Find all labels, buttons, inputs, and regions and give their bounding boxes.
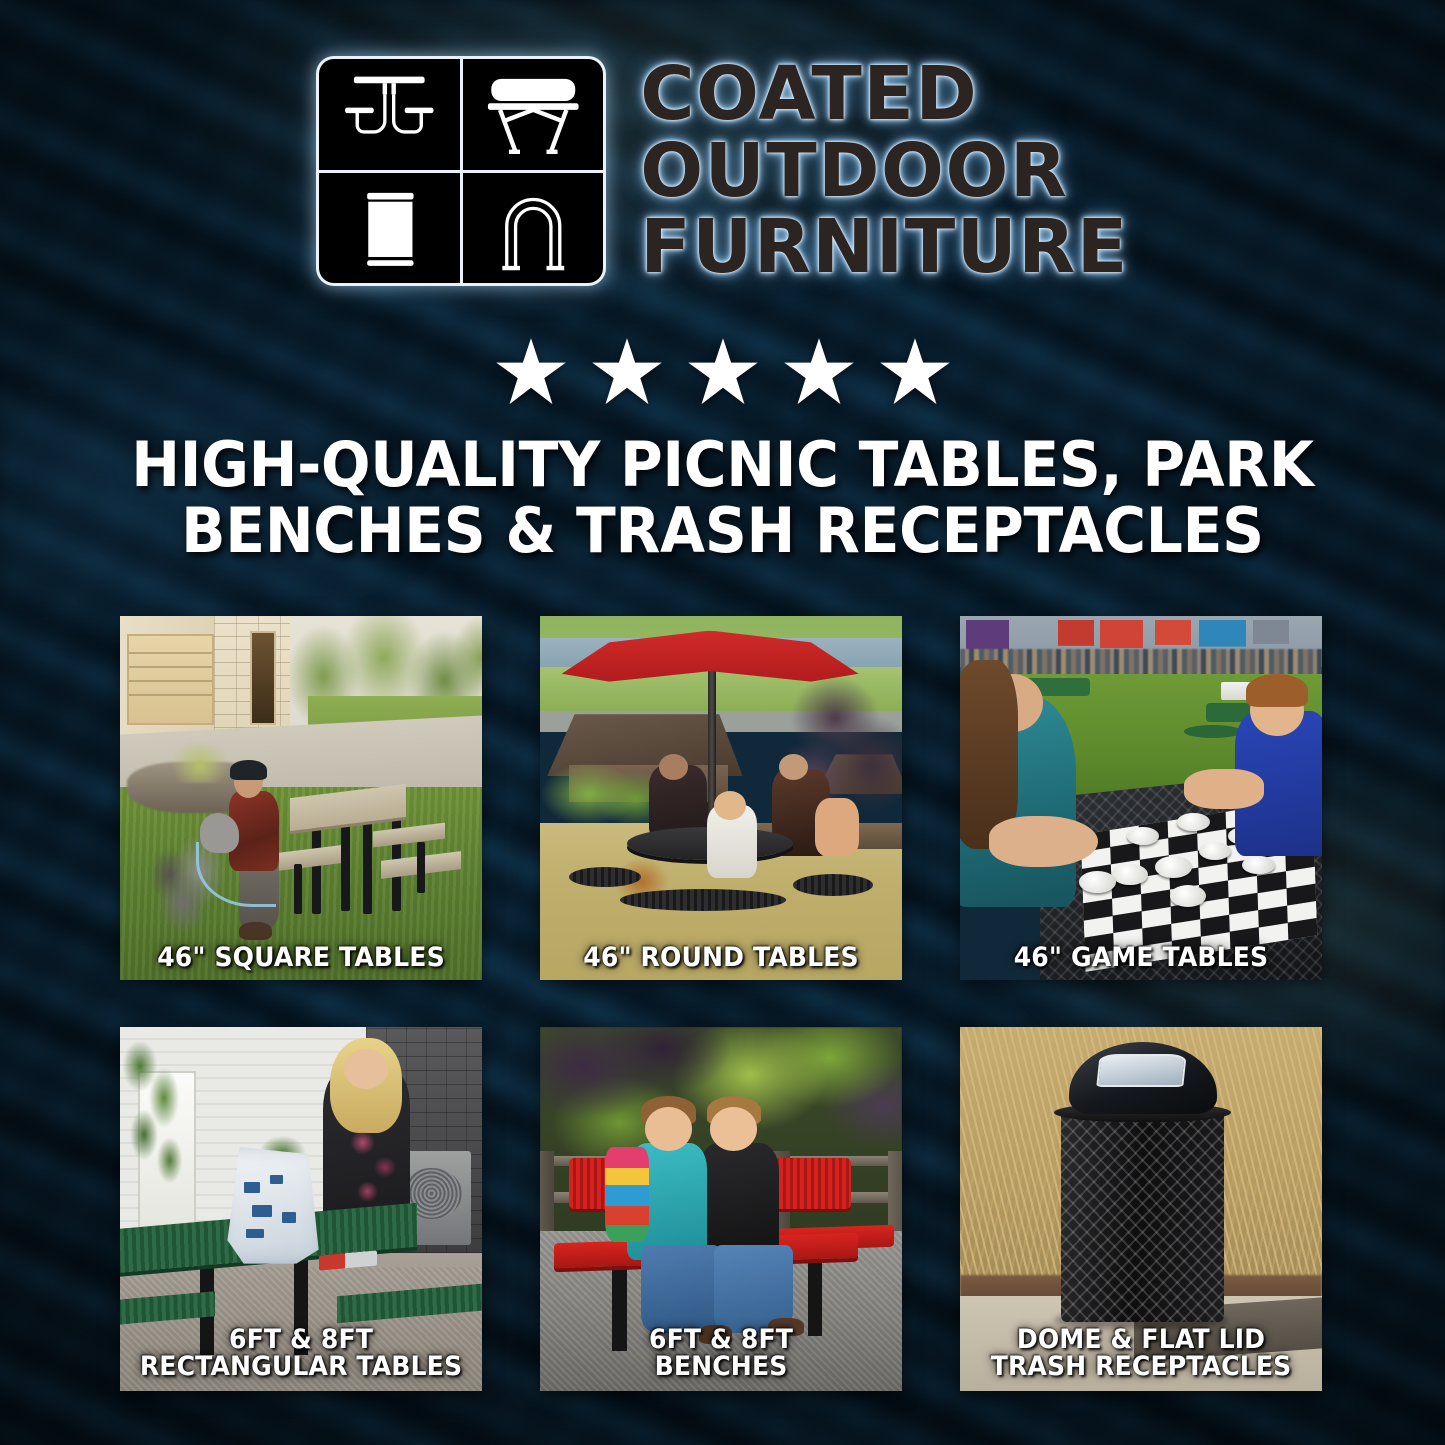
- brand-line-2: OUTDOOR: [640, 135, 1129, 208]
- product-caption-rectangular-tables: 6FT & 8FT RECTANGULAR TABLES: [133, 1326, 470, 1381]
- caption-line: BENCHES: [553, 1353, 890, 1381]
- caption-line: DOME & FLAT LID: [973, 1326, 1310, 1354]
- star-icon: [878, 336, 952, 410]
- product-caption-round-tables: 46" ROUND TABLES: [553, 944, 890, 972]
- brand-line-3: FURNITURE: [640, 211, 1129, 284]
- product-photo-game-tables: [960, 616, 1322, 980]
- product-caption-square-tables: 46" SQUARE TABLES: [133, 944, 470, 972]
- product-tile-game-tables[interactable]: 46" GAME TABLES: [960, 616, 1322, 980]
- brand-wordmark: COATED OUTDOOR FURNITURE: [640, 56, 1129, 284]
- product-caption-game-tables: 46" GAME TABLES: [973, 944, 1310, 972]
- bike-rack-icon: [463, 173, 604, 284]
- headline-line-2: BENCHES & TRASH RECEPTACLES: [43, 498, 1401, 564]
- caption-line: TRASH RECEPTACLES: [973, 1353, 1310, 1381]
- caption-line: 46" SQUARE TABLES: [133, 944, 470, 972]
- promo-poster: COATED OUTDOOR FURNITURE HIGH-QUALITY PI…: [0, 0, 1445, 1445]
- caption-line: RECTANGULAR TABLES: [133, 1353, 470, 1381]
- star-icon: [590, 336, 664, 410]
- star-icon: [782, 336, 856, 410]
- star-rating: [0, 336, 1445, 410]
- trash-receptacle-icon: [319, 173, 460, 284]
- bench-table-icon: [463, 59, 604, 170]
- headline-line-1: HIGH-QUALITY PICNIC TABLES, PARK: [43, 432, 1401, 498]
- product-tile-benches[interactable]: 6FT & 8FT BENCHES: [540, 1027, 902, 1391]
- picnic-table-icon: [319, 59, 460, 170]
- product-tile-square-tables[interactable]: 46" SQUARE TABLES: [120, 616, 482, 980]
- product-tile-trash-receptacles[interactable]: DOME & FLAT LID TRASH RECEPTACLES: [960, 1027, 1322, 1391]
- product-caption-trash-receptacles: DOME & FLAT LID TRASH RECEPTACLES: [973, 1326, 1310, 1381]
- product-tile-rectangular-tables[interactable]: 6FT & 8FT RECTANGULAR TABLES: [120, 1027, 482, 1391]
- product-grid: 46" SQUARE TABLES: [120, 616, 1330, 1391]
- brand-header: COATED OUTDOOR FURNITURE: [0, 56, 1445, 286]
- product-photo-square-tables: [120, 616, 482, 980]
- caption-line: 6FT & 8FT: [553, 1326, 890, 1354]
- product-tile-round-tables[interactable]: 46" ROUND TABLES: [540, 616, 902, 980]
- caption-line: 46" GAME TABLES: [973, 944, 1310, 972]
- product-photo-round-tables: [540, 616, 902, 980]
- product-caption-benches: 6FT & 8FT BENCHES: [553, 1326, 890, 1381]
- star-icon: [494, 336, 568, 410]
- caption-line: 46" ROUND TABLES: [553, 944, 890, 972]
- logo-mark: [316, 56, 606, 286]
- brand-line-1: COATED: [640, 58, 1129, 131]
- caption-line: 6FT & 8FT: [133, 1326, 470, 1354]
- star-icon: [686, 336, 760, 410]
- page-headline: HIGH-QUALITY PICNIC TABLES, PARK BENCHES…: [43, 432, 1401, 563]
